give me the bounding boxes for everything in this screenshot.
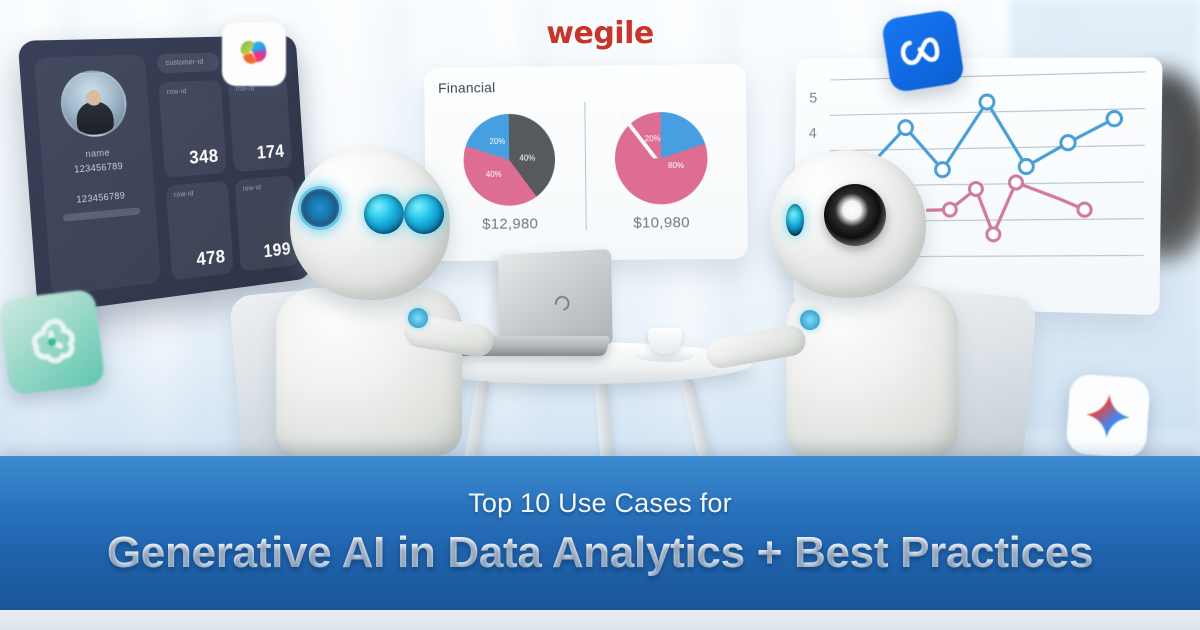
gemini-star-icon — [1081, 389, 1134, 442]
pie-chart-left-group: 40% 40% 20% $12,980 — [438, 96, 581, 249]
stat-value: 174 — [239, 141, 284, 164]
pie-slice-label: 40% — [519, 153, 535, 162]
profile-progress-bar — [63, 207, 140, 221]
profile-id-secondary: 123456789 — [76, 190, 125, 205]
pie-chart-left: 40% 40% 20% — [463, 113, 555, 206]
stat-card-grid: row-id 348 row-id 174 row-id 478 row-id … — [158, 77, 298, 280]
banner-title: Generative AI in Data Analytics + Best P… — [107, 528, 1093, 578]
pie-chart-right: 80% 20% — [614, 111, 707, 204]
wegile-logo-text: wegile — [546, 16, 653, 51]
wegile-logo: wegile — [0, 16, 1200, 51]
infinity-icon — [897, 31, 949, 70]
pie-slice-label: 80% — [668, 160, 684, 169]
pie-slice-label: 20% — [645, 134, 661, 143]
pie-slice-label: 40% — [486, 169, 502, 178]
stat-value: 348 — [171, 146, 219, 170]
profile-id-primary: 123456789 — [74, 161, 123, 175]
profile-card: name 123456789 123456789 — [34, 54, 161, 295]
banner-kicker: Top 10 Use Cases for — [468, 488, 732, 519]
financial-panel: Financial 40% 40% 20% $12,980 80% 20% $1… — [424, 64, 748, 261]
pie-chart-right-group: 80% 20% $10,980 — [589, 94, 734, 248]
profile-name-label: name — [85, 147, 110, 159]
laptop-screen — [498, 249, 613, 345]
financial-amount-right: $10,980 — [633, 214, 690, 232]
chip-customer-id[interactable]: customer-id — [156, 52, 219, 73]
openai-chatgpt-icon[interactable] — [0, 289, 105, 396]
stat-label: row-id — [167, 87, 214, 96]
laptop-logo-icon — [553, 293, 573, 314]
poster-canvas: wegile name 123456789 123456789 customer… — [0, 0, 1200, 630]
stat-label: row-id — [242, 182, 286, 193]
stat-card: row-id 478 — [166, 181, 234, 281]
avatar — [59, 69, 129, 138]
pie-slice-label: 20% — [489, 136, 505, 145]
microsoft-copilot-icon[interactable] — [222, 22, 286, 86]
bottom-strip — [0, 610, 1200, 630]
stat-value: 199 — [246, 239, 291, 264]
panel-divider — [584, 102, 586, 230]
stat-label: row-id — [174, 188, 221, 199]
stat-value: 478 — [178, 246, 226, 272]
meta-ai-icon[interactable] — [881, 9, 966, 94]
financial-amount-left: $12,980 — [482, 215, 538, 232]
google-gemini-icon[interactable] — [1065, 373, 1150, 458]
stat-card: row-id 174 — [228, 77, 292, 172]
financial-panel-title: Financial — [438, 76, 732, 96]
stat-card: row-id 348 — [158, 80, 226, 178]
bottom-banner: Top 10 Use Cases for Generative AI in Da… — [0, 456, 1200, 610]
openai-knot-icon — [15, 305, 89, 379]
